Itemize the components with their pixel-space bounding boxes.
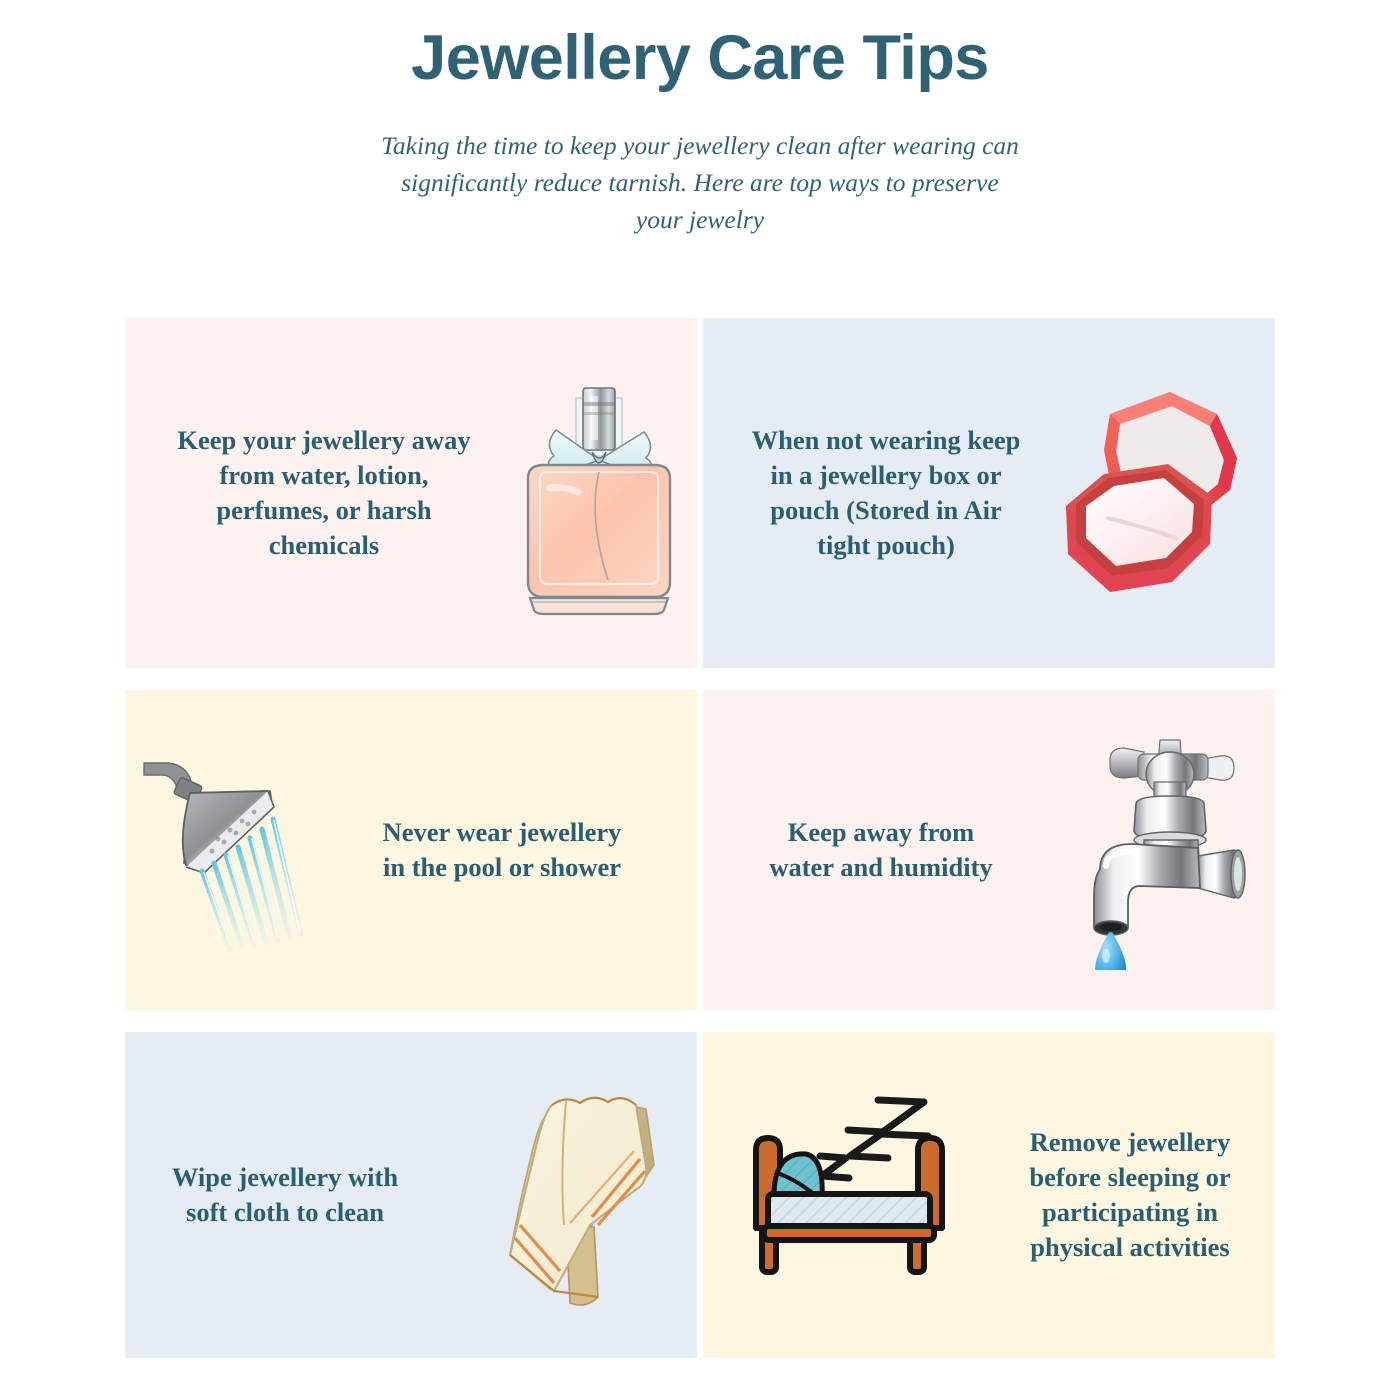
header: Jewellery Care Tips Taking the time to k… bbox=[0, 0, 1400, 239]
card-no-pool-or-shower[interactable]: Never wear jewellery in the pool or show… bbox=[125, 690, 697, 1010]
card-text: Wipe jewellery with soft cloth to clean bbox=[125, 1160, 445, 1230]
bed-sleeping-icon bbox=[728, 1088, 968, 1303]
card-text: Remove jewellery before sleeping or part… bbox=[985, 1125, 1275, 1266]
card-away-from-water[interactable]: Keep away from water and humidity bbox=[703, 690, 1275, 1010]
card-art bbox=[1043, 730, 1268, 970]
infographic-page: Jewellery Care Tips Taking the time to k… bbox=[0, 0, 1400, 1400]
card-art bbox=[137, 743, 347, 958]
shower-head-icon bbox=[142, 743, 342, 958]
card-art bbox=[489, 1075, 697, 1315]
page-subtitle: Taking the time to keep your jewellery c… bbox=[380, 128, 1020, 239]
card-text: Keep away from water and humidity bbox=[731, 815, 1031, 885]
card-art bbox=[723, 1088, 973, 1303]
card-art bbox=[1051, 378, 1267, 608]
card-away-from-chemicals[interactable]: Keep your jewellery away from water, lot… bbox=[125, 318, 697, 668]
cloth-icon bbox=[494, 1075, 694, 1315]
faucet-icon bbox=[1048, 730, 1263, 970]
card-text: Never wear jewellery in the pool or show… bbox=[347, 815, 657, 885]
card-text: Keep your jewellery away from water, lot… bbox=[149, 423, 499, 564]
tips-grid: Keep your jewellery away from water, lot… bbox=[125, 318, 1275, 1358]
card-remove-before-sleeping[interactable]: Remove jewellery before sleeping or part… bbox=[703, 1032, 1275, 1358]
card-wipe-with-cloth[interactable]: Wipe jewellery with soft cloth to clean bbox=[125, 1032, 697, 1358]
perfume-bottle-icon bbox=[504, 368, 694, 618]
jewellery-box-icon bbox=[1052, 378, 1267, 608]
card-store-in-box[interactable]: When not wearing keep in a jewellery box… bbox=[703, 318, 1275, 668]
card-art bbox=[501, 368, 697, 618]
card-text: When not wearing keep in a jewellery box… bbox=[721, 423, 1051, 564]
page-title: Jewellery Care Tips bbox=[0, 22, 1400, 94]
